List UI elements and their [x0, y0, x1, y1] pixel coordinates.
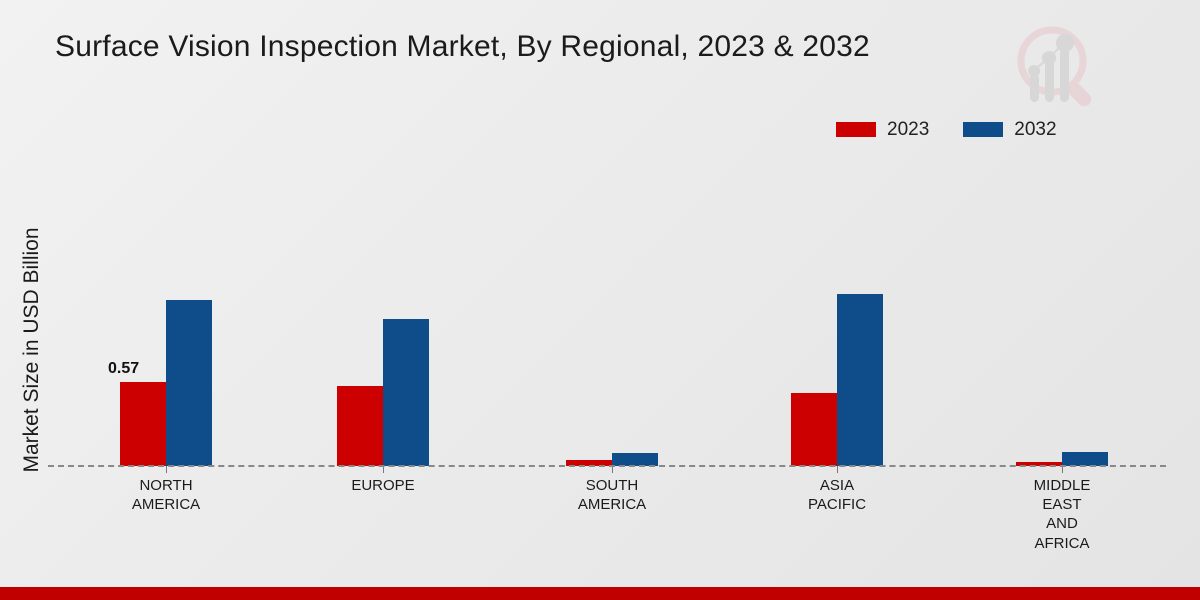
- bar-europe-2023[interactable]: [337, 386, 383, 466]
- category-line: AMERICA: [71, 495, 261, 514]
- x-axis-baseline: [48, 465, 1166, 467]
- category-line: MIDDLE: [967, 476, 1157, 495]
- category-line: AMERICA: [517, 495, 707, 514]
- category-label-middle-east-and-africa: MIDDLE EAST AND AFRICA: [967, 476, 1157, 553]
- axis-tick-south-america: [612, 466, 613, 473]
- category-label-asia-pacific: ASIA PACIFIC: [742, 476, 932, 514]
- category-label-south-america: SOUTH AMERICA: [517, 476, 707, 514]
- bar-group-europe: EUROPE: [287, 160, 477, 466]
- category-label-north-america: NORTH AMERICA: [71, 476, 261, 514]
- axis-tick-north-america: [166, 466, 167, 473]
- chart-container: Surface Vision Inspection Market, By Reg…: [0, 0, 1200, 600]
- legend-swatch-2023: [836, 122, 876, 137]
- axis-tick-europe: [383, 466, 384, 473]
- category-label-europe: EUROPE: [288, 476, 478, 495]
- bar-north-america-2023[interactable]: [120, 382, 166, 466]
- chart-legend: 2023 2032: [836, 120, 1057, 139]
- category-line: PACIFIC: [742, 495, 932, 514]
- category-line: AFRICA: [967, 534, 1157, 553]
- axis-tick-middle-east-and-africa: [1062, 466, 1063, 473]
- axis-tick-asia-pacific: [837, 466, 838, 473]
- chart-title: Surface Vision Inspection Market, By Reg…: [55, 30, 870, 64]
- category-line: ASIA: [742, 476, 932, 495]
- legend-label-2023: 2023: [887, 120, 929, 139]
- y-axis-title: Market Size in USD Billion: [20, 180, 44, 520]
- category-line: SOUTH: [517, 476, 707, 495]
- bar-middle-east-and-africa-2032[interactable]: [1062, 452, 1108, 466]
- legend-label-2032: 2032: [1014, 120, 1056, 139]
- bar-asia-pacific-2032[interactable]: [837, 294, 883, 466]
- plot-area: 0.57 NORTH AMERICA EUROPE: [48, 160, 1166, 466]
- category-line: EUROPE: [288, 476, 478, 495]
- bar-group-middle-east-and-africa: MIDDLE EAST AND AFRICA: [966, 160, 1156, 466]
- bar-group-asia-pacific: ASIA PACIFIC: [741, 160, 931, 466]
- legend-item-2032[interactable]: 2032: [963, 120, 1056, 139]
- category-line: AND: [967, 514, 1157, 533]
- category-line: NORTH: [71, 476, 261, 495]
- bar-europe-2032[interactable]: [383, 319, 429, 466]
- bar-asia-pacific-2023[interactable]: [791, 393, 837, 466]
- bar-group-south-america: SOUTH AMERICA: [516, 160, 706, 466]
- watermark-logo-icon: [1004, 16, 1108, 120]
- legend-swatch-2032: [963, 122, 1003, 137]
- legend-item-2023[interactable]: 2023: [836, 120, 929, 139]
- bar-north-america-2032[interactable]: [166, 300, 212, 466]
- category-line: EAST: [967, 495, 1157, 514]
- bar-group-north-america: 0.57 NORTH AMERICA: [60, 160, 250, 466]
- footer-accent-bar: [0, 587, 1200, 600]
